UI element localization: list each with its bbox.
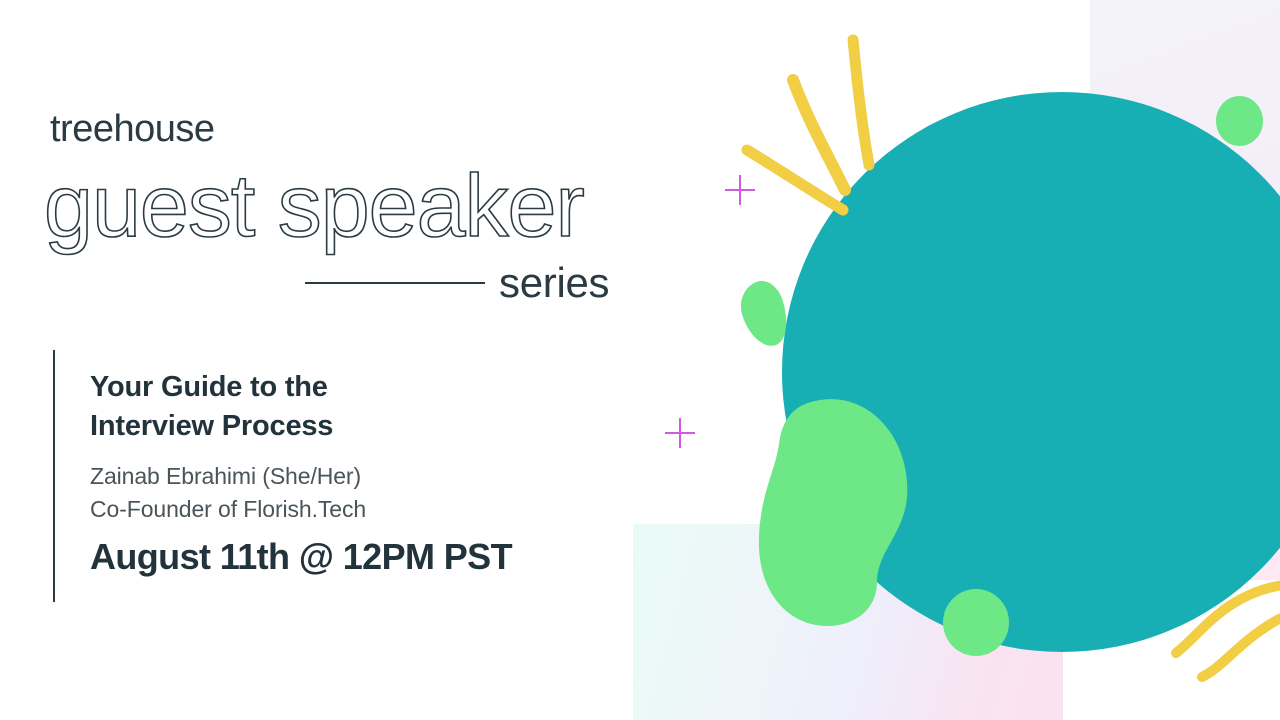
talk-title: Your Guide to the Interview Process (90, 368, 510, 445)
brand-wordmark: treehouse (50, 108, 215, 151)
plus-mark-lower-icon (665, 418, 695, 448)
promo-slide: treehouse guest speaker series Your Guid… (0, 0, 1280, 720)
talk-title-line-2: Interview Process (90, 407, 510, 446)
series-row: series (305, 258, 625, 308)
green-dot-right-icon (1216, 96, 1263, 146)
speaker-details: Zainab Ebrahimi (She/Her) Co-Founder of … (90, 460, 550, 525)
speaker-name: Zainab Ebrahimi (She/Her) (90, 460, 550, 493)
green-blob-icon (757, 396, 935, 628)
series-divider (305, 282, 485, 284)
series-label: series (499, 259, 609, 307)
talk-title-line-1: Your Guide to the (90, 368, 510, 407)
headline-outline: guest speaker (44, 160, 584, 252)
vertical-accent-bar (53, 350, 55, 602)
speaker-role: Co-Founder of Florish.Tech (90, 493, 550, 526)
yellow-wave-lines-icon (1160, 575, 1280, 700)
event-datetime: August 11th @ 12PM PST (90, 536, 512, 578)
green-dot-icon (943, 589, 1009, 656)
plus-mark-top-icon (725, 175, 755, 205)
